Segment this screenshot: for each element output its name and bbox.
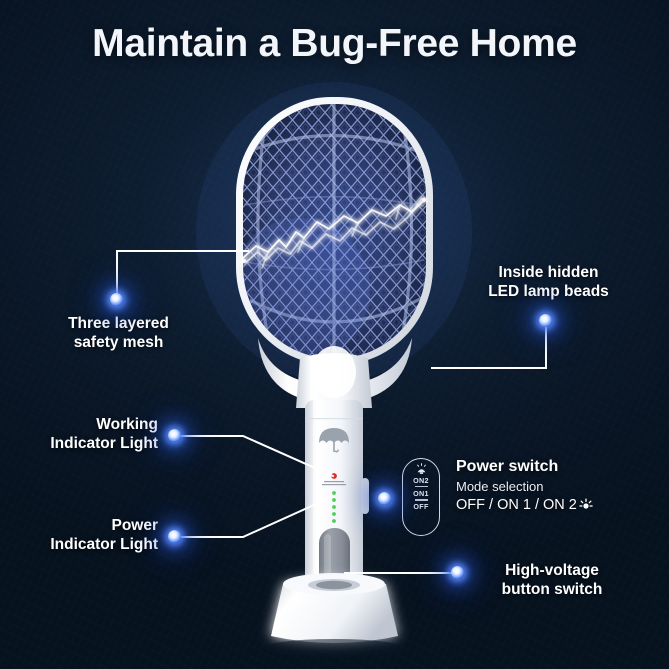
callout-line-1: Power: [0, 517, 158, 536]
switch-position-off: OFF: [413, 503, 428, 510]
callout-line-2: LED lamp beads: [466, 283, 631, 302]
page-title: Maintain a Bug-Free Home: [0, 22, 669, 66]
callout-line-2: Indicator Light: [0, 536, 158, 555]
callout-line-1: High-voltage: [473, 562, 631, 581]
callout-line-1: Three layered: [36, 315, 201, 334]
lamp-icon: [415, 463, 428, 475]
power-switch-subtitle: Mode selection: [456, 479, 543, 494]
dot-working-indicator-light[interactable]: [168, 429, 181, 442]
callout-three-layered-safety-mesh: Three layered safety mesh: [36, 315, 201, 353]
power-switch-title: Power switch: [456, 458, 558, 476]
callout-power-indicator-light: Power Indicator Light: [0, 517, 158, 555]
callout-line-2: safety mesh: [36, 334, 201, 353]
power-switch-modes: OFF / ON 1 / ON 2: [456, 497, 593, 513]
callout-line-2: Indicator Light: [0, 435, 158, 454]
switch-divider-1: [415, 486, 428, 487]
dot-power-switch[interactable]: [378, 492, 391, 505]
power-switch-diagram[interactable]: ON2 ON1 OFF: [402, 458, 440, 536]
callout-line-1: Working: [0, 416, 158, 435]
callout-line-1: Inside hidden: [466, 264, 631, 283]
callout-working-indicator-light: Working Indicator Light: [0, 416, 158, 454]
dot-power-indicator-light[interactable]: [168, 530, 181, 543]
sun-icon: [579, 498, 593, 512]
power-switch-modes-text: OFF / ON 1 / ON 2: [456, 497, 577, 513]
dot-high-voltage-button-switch[interactable]: [451, 566, 464, 579]
switch-position-on2: ON2: [413, 477, 429, 484]
high-voltage-button: [361, 478, 369, 514]
infographic-canvas: Maintain a Bug-Free Home: [0, 0, 669, 669]
switch-divider-2: [415, 499, 428, 500]
charging-led-red: [331, 473, 337, 479]
callout-inside-hidden-led-lamp-beads: Inside hidden LED lamp beads: [466, 264, 631, 302]
dot-inside-hidden-led-lamp-beads[interactable]: [539, 314, 552, 327]
dot-three-layered-safety-mesh[interactable]: [110, 293, 123, 306]
callout-line-2: button switch: [473, 581, 631, 600]
callout-high-voltage-button-switch: High-voltage button switch: [473, 562, 631, 600]
switch-position-on1: ON1: [413, 490, 429, 497]
